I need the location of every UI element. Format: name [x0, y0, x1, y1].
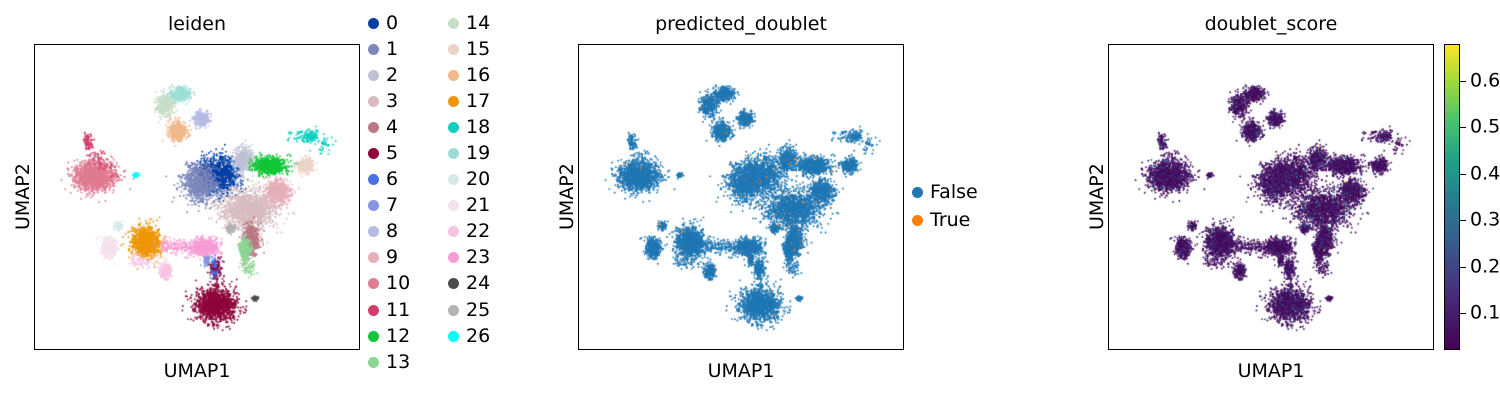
y-axis-label-predicted-doublet: UMAP2: [556, 163, 578, 230]
legend-entry[interactable]: 25: [448, 297, 510, 323]
panel-title-leiden: leiden: [34, 13, 360, 35]
legend-entry[interactable]: 8: [368, 219, 430, 245]
legend-entry[interactable]: 14: [448, 10, 510, 36]
legend-entry[interactable]: True: [912, 206, 1022, 234]
legend-entry[interactable]: 9: [368, 245, 430, 271]
colorbar-tick-label: 0.6: [1470, 72, 1500, 91]
y-axis-label-doublet-score: UMAP2: [1086, 163, 1108, 230]
colorbar-tick-label: 0.4: [1470, 164, 1500, 183]
legend-entry[interactable]: 11: [368, 297, 430, 323]
legend-label: 4: [386, 118, 398, 137]
legend-entry[interactable]: 3: [368, 88, 430, 114]
legend-entry[interactable]: 15: [448, 36, 510, 62]
legend-label: True: [930, 211, 970, 230]
legend-color-swatch: [448, 18, 459, 29]
scatter-canvas-predicted-doublet: [579, 45, 904, 350]
legend-label: 24: [466, 274, 490, 293]
scatter-canvas-leiden: [35, 45, 360, 350]
legend-color-swatch: [448, 96, 459, 107]
legend-label: 13: [386, 353, 410, 372]
legend-color-swatch: [448, 252, 459, 263]
legend-label: False: [930, 183, 978, 202]
y-axis-label-leiden: UMAP2: [12, 163, 34, 230]
panel-title-predicted-doublet: predicted_doublet: [578, 13, 904, 35]
colorbar-tick-label: 0.5: [1470, 118, 1500, 137]
x-axis-label-leiden: UMAP1: [34, 360, 360, 382]
axes-box-doublet-score: [1108, 44, 1434, 350]
legend-entry[interactable]: 12: [368, 323, 430, 349]
colorbar-tick: [1460, 81, 1466, 82]
colorbar-tick: [1460, 267, 1466, 268]
legend-color-swatch: [448, 226, 459, 237]
legend-color-swatch: [912, 215, 923, 226]
legend-entry[interactable]: 5: [368, 140, 430, 166]
legend-color-swatch: [448, 174, 459, 185]
legend-label: 0: [386, 14, 398, 33]
x-axis-label-predicted-doublet: UMAP1: [578, 360, 904, 382]
legend-label: 10: [386, 274, 410, 293]
legend-color-swatch: [368, 148, 379, 159]
legend-entry[interactable]: 6: [368, 167, 430, 193]
legend-label: 12: [386, 327, 410, 346]
legend-label: 15: [466, 40, 490, 59]
legend-leiden: 012345678910111213 141516171819202122232…: [368, 10, 514, 400]
legend-color-swatch: [368, 122, 379, 133]
panel-title-doublet-score: doublet_score: [1108, 13, 1434, 35]
figure-root: leiden UMAP2 UMAP1 012345678910111213 14…: [0, 0, 1500, 402]
legend-label: 21: [466, 196, 490, 215]
legend-predicted-doublet: FalseTrue: [912, 178, 1022, 234]
legend-color-swatch: [368, 357, 379, 368]
legend-entry[interactable]: 23: [448, 245, 510, 271]
legend-entry[interactable]: 18: [448, 114, 510, 140]
legend-label: 8: [386, 222, 398, 241]
legend-entry[interactable]: 22: [448, 219, 510, 245]
axes-box-predicted-doublet: [578, 44, 904, 350]
legend-color-swatch: [368, 174, 379, 185]
axes-box-leiden: [34, 44, 360, 350]
legend-entry[interactable]: 24: [448, 271, 510, 297]
legend-label: 22: [466, 222, 490, 241]
legend-label: 3: [386, 92, 398, 111]
legend-label: 11: [386, 301, 410, 320]
legend-label: 7: [386, 196, 398, 215]
legend-entry[interactable]: 0: [368, 10, 430, 36]
legend-color-swatch: [368, 96, 379, 107]
colorbar-tick-label: 0.2: [1470, 257, 1500, 276]
legend-entry[interactable]: 20: [448, 167, 510, 193]
colorbar-doublet-score: 0.10.20.30.40.50.6: [1444, 44, 1460, 350]
legend-entry[interactable]: 21: [448, 193, 510, 219]
legend-label: 18: [466, 118, 490, 137]
legend-color-swatch: [448, 278, 459, 289]
legend-entry[interactable]: 16: [448, 62, 510, 88]
legend-entry[interactable]: 26: [448, 323, 510, 349]
legend-entry[interactable]: 1: [368, 36, 430, 62]
legend-entry[interactable]: 10: [368, 271, 430, 297]
legend-color-swatch: [368, 70, 379, 81]
legend-color-swatch: [448, 305, 459, 316]
legend-label: 16: [466, 66, 490, 85]
legend-label: 2: [386, 66, 398, 85]
legend-label: 26: [466, 327, 490, 346]
legend-entry[interactable]: 17: [448, 88, 510, 114]
legend-color-swatch: [368, 305, 379, 316]
legend-entry[interactable]: 19: [448, 140, 510, 166]
legend-color-swatch: [448, 331, 459, 342]
legend-label: 23: [466, 248, 490, 267]
legend-label: 20: [466, 170, 490, 189]
legend-entry[interactable]: 4: [368, 114, 430, 140]
legend-color-swatch: [448, 200, 459, 211]
legend-color-swatch: [368, 200, 379, 211]
legend-entry[interactable]: False: [912, 178, 1022, 206]
legend-entry[interactable]: 2: [368, 62, 430, 88]
colorbar-tick: [1460, 127, 1466, 128]
legend-entry[interactable]: 13: [368, 349, 430, 375]
legend-column-1: 012345678910111213: [368, 10, 430, 375]
legend-label: 6: [386, 170, 398, 189]
legend-entry[interactable]: 7: [368, 193, 430, 219]
legend-label: 19: [466, 144, 490, 163]
colorbar-tick-label: 0.1: [1470, 303, 1500, 322]
legend-color-swatch: [368, 278, 379, 289]
colorbar-tick: [1460, 174, 1466, 175]
legend-color-swatch: [368, 331, 379, 342]
colorbar-tick-label: 0.3: [1470, 211, 1500, 230]
legend-label: 17: [466, 92, 490, 111]
legend-color-swatch: [448, 70, 459, 81]
legend-color-swatch: [368, 226, 379, 237]
legend-column-2: 14151617181920212223242526: [448, 10, 510, 349]
legend-color-swatch: [448, 148, 459, 159]
legend-label: 5: [386, 144, 398, 163]
legend-color-swatch: [368, 252, 379, 263]
legend-label: 14: [466, 14, 490, 33]
colorbar-tick: [1460, 313, 1466, 314]
colorbar-gradient: [1444, 44, 1460, 350]
colorbar-tick: [1460, 220, 1466, 221]
legend-color-swatch: [368, 18, 379, 29]
x-axis-label-doublet-score: UMAP1: [1108, 360, 1434, 382]
legend-color-swatch: [912, 187, 923, 198]
legend-color-swatch: [448, 44, 459, 55]
legend-label: 1: [386, 40, 398, 59]
legend-color-swatch: [368, 44, 379, 55]
scatter-canvas-doublet-score: [1109, 45, 1434, 350]
legend-color-swatch: [448, 122, 459, 133]
legend-label: 25: [466, 301, 490, 320]
legend-label: 9: [386, 248, 398, 267]
